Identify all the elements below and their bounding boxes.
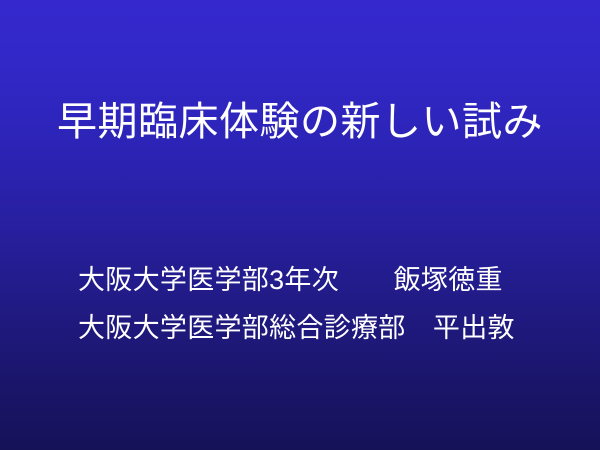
page-title: 早期臨床体験の新しい試み (57, 98, 543, 146)
title-slide: 早期臨床体験の新しい試み 大阪大学医学部3年次 飯塚徳重 大阪大学医学部総合診療… (0, 0, 600, 450)
subtitle-line-1: 大阪大学医学部3年次 飯塚徳重 (78, 256, 548, 304)
slide-subtitle-block: 大阪大学医学部3年次 飯塚徳重 大阪大学医学部総合診療部 平出敦 (78, 256, 548, 352)
slide-title-block: 早期臨床体験の新しい試み (0, 98, 600, 146)
subtitle-line-2: 大阪大学医学部総合診療部 平出敦 (78, 304, 548, 352)
